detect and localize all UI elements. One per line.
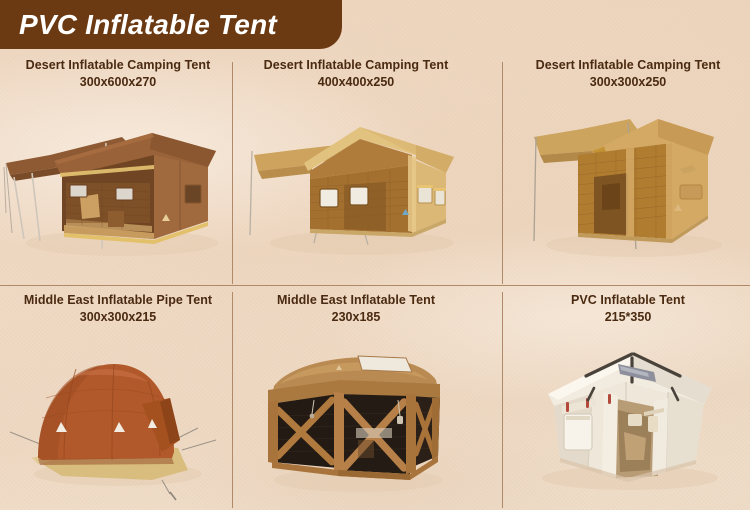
- product-name: Middle East Inflatable Pipe Tent: [2, 293, 234, 308]
- product-image: [508, 328, 748, 510]
- product-size: 400x400x250: [240, 73, 472, 90]
- product-name: Middle East Inflatable Tent: [240, 293, 472, 308]
- product-image: [240, 328, 472, 510]
- product-caption: Desert Inflatable Camping Tent 300x600x2…: [2, 54, 234, 90]
- hexagon-gazebo-tent-icon: [268, 356, 442, 492]
- product-caption: Middle East Inflatable Pipe Tent 300x300…: [2, 289, 234, 325]
- product-size: 300x600x270: [2, 73, 234, 90]
- product-cell[interactable]: Desert Inflatable Camping Tent 400x400x2…: [240, 54, 472, 284]
- grid-divider-vertical-bottom-right: [502, 292, 503, 508]
- product-name: Desert Inflatable Camping Tent: [240, 58, 472, 73]
- product-caption: Desert Inflatable Camping Tent 300x300x2…: [508, 54, 748, 90]
- product-size: 300x300x215: [2, 308, 234, 325]
- product-name: PVC Inflatable Tent: [508, 293, 748, 308]
- product-image: [508, 93, 748, 275]
- header-banner: PVC Inflatable Tent: [0, 0, 342, 49]
- dome-tent-icon: [10, 364, 216, 500]
- product-size: 300x300x250: [508, 73, 748, 90]
- product-image: [2, 93, 234, 275]
- product-name: Desert Inflatable Camping Tent: [508, 58, 748, 73]
- page-title: PVC Inflatable Tent: [0, 11, 277, 39]
- product-cell[interactable]: Middle East Inflatable Tent 230x185: [240, 289, 472, 510]
- grid-divider-vertical-top-left: [232, 62, 233, 284]
- gable-house-tent-icon: [250, 127, 454, 255]
- grid-divider-vertical-top-right: [502, 62, 503, 284]
- catalog-page: PVC Inflatable Tent Desert Inflatable Ca…: [0, 0, 750, 510]
- product-cell[interactable]: Desert Inflatable Camping Tent 300x300x2…: [508, 54, 748, 284]
- product-image: [240, 93, 472, 275]
- square-canopy-tent-icon: [534, 119, 722, 257]
- product-grid: Desert Inflatable Camping Tent 300x600x2…: [0, 49, 750, 510]
- product-size: 230x185: [240, 308, 472, 325]
- cabin-tent-with-awning-icon: [4, 133, 218, 256]
- product-caption: Middle East Inflatable Tent 230x185: [240, 289, 472, 325]
- product-cell[interactable]: Desert Inflatable Camping Tent 300x600x2…: [2, 54, 234, 284]
- product-cell[interactable]: PVC Inflatable Tent 215*350: [508, 289, 748, 510]
- product-cell[interactable]: Middle East Inflatable Pipe Tent 300x300…: [2, 289, 234, 510]
- product-name: Desert Inflatable Camping Tent: [2, 58, 234, 73]
- product-caption: PVC Inflatable Tent 215*350: [508, 289, 748, 325]
- yurt-pvc-tent-icon: [542, 352, 718, 490]
- grid-divider-horizontal: [0, 285, 750, 286]
- product-size: 215*350: [508, 308, 748, 325]
- grid-divider-vertical-bottom-left: [232, 292, 233, 508]
- product-image: [2, 328, 234, 510]
- product-caption: Desert Inflatable Camping Tent 400x400x2…: [240, 54, 472, 90]
